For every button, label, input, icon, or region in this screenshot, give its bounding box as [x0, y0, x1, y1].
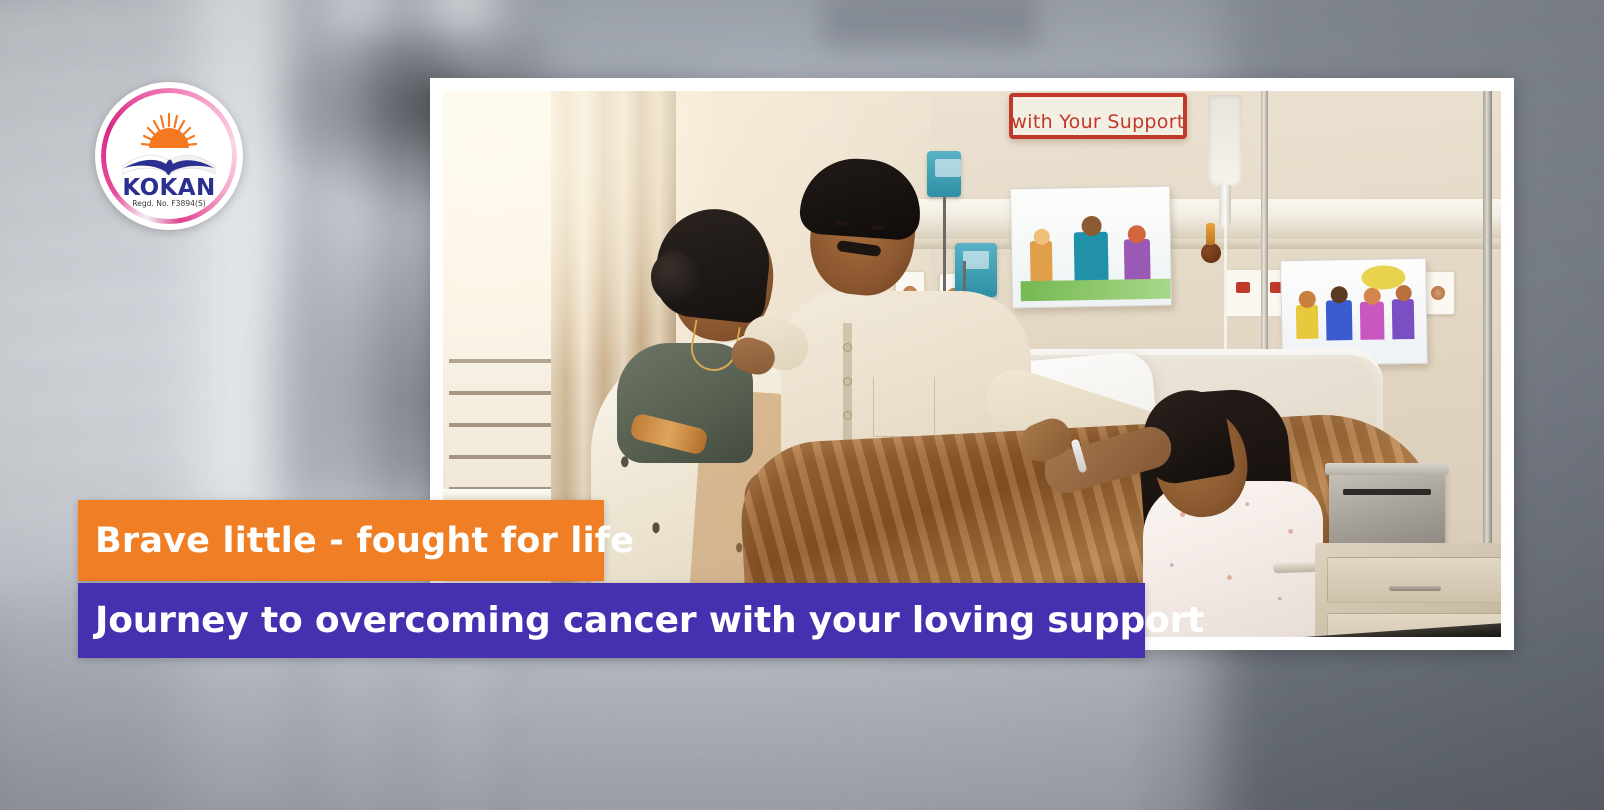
subhead-banner: Journey to overcoming cancer with your l… — [78, 583, 1145, 658]
drawing-figure — [1360, 301, 1385, 339]
support-poster-text: with Your Support — [1011, 111, 1184, 135]
support-poster: with Your Support — [1009, 93, 1187, 139]
father-kurta-pocket — [873, 377, 935, 437]
father-kurta-button — [843, 377, 852, 386]
drawing-figure — [1124, 239, 1151, 283]
drawing-grass — [1021, 279, 1171, 302]
drawing-figure — [1392, 299, 1415, 339]
metal-storage-box-slot — [1343, 489, 1431, 495]
child-drawing — [1010, 186, 1172, 309]
logo-registration-text: Regd. No. F3894(S) — [132, 199, 206, 208]
headline-text: Brave little - fought for life — [95, 521, 634, 561]
headline-banner: Brave little - fought for life — [78, 500, 604, 581]
iv-bottle — [1208, 95, 1242, 187]
logo-artwork: KOKAN Regd. No. F3894(S) — [109, 96, 229, 216]
logo-wordmark: KOKAN — [122, 175, 215, 201]
metal-storage-box-lid — [1325, 463, 1449, 475]
bedside-cabinet — [1315, 543, 1501, 637]
father-kurta-button — [843, 411, 852, 420]
drawer-handle — [1389, 586, 1441, 591]
gas-outlet-icon — [927, 151, 961, 197]
drawing-figure — [1296, 305, 1319, 339]
father-kurta-button — [843, 343, 852, 352]
drawing-figure — [1326, 300, 1353, 340]
drawing-figure — [1030, 241, 1053, 285]
iv-drip-chamber — [1219, 185, 1231, 227]
drawing-figure — [1074, 232, 1109, 285]
kokan-logo: KOKAN Regd. No. F3894(S) — [95, 82, 243, 230]
switch-toggle-icon — [1236, 282, 1250, 293]
father-eye — [835, 221, 849, 226]
promotional-poster: KOKAN Regd. No. F3894(S) — [0, 0, 1604, 810]
metal-storage-box — [1329, 469, 1445, 547]
subhead-text: Journey to overcoming cancer with your l… — [95, 600, 1204, 641]
father-eye — [871, 225, 885, 230]
sun-icon — [142, 114, 196, 148]
mother-hair-bun — [651, 251, 699, 303]
gas-valve-icon — [1195, 223, 1225, 265]
cabinet-drawer — [1327, 557, 1501, 603]
